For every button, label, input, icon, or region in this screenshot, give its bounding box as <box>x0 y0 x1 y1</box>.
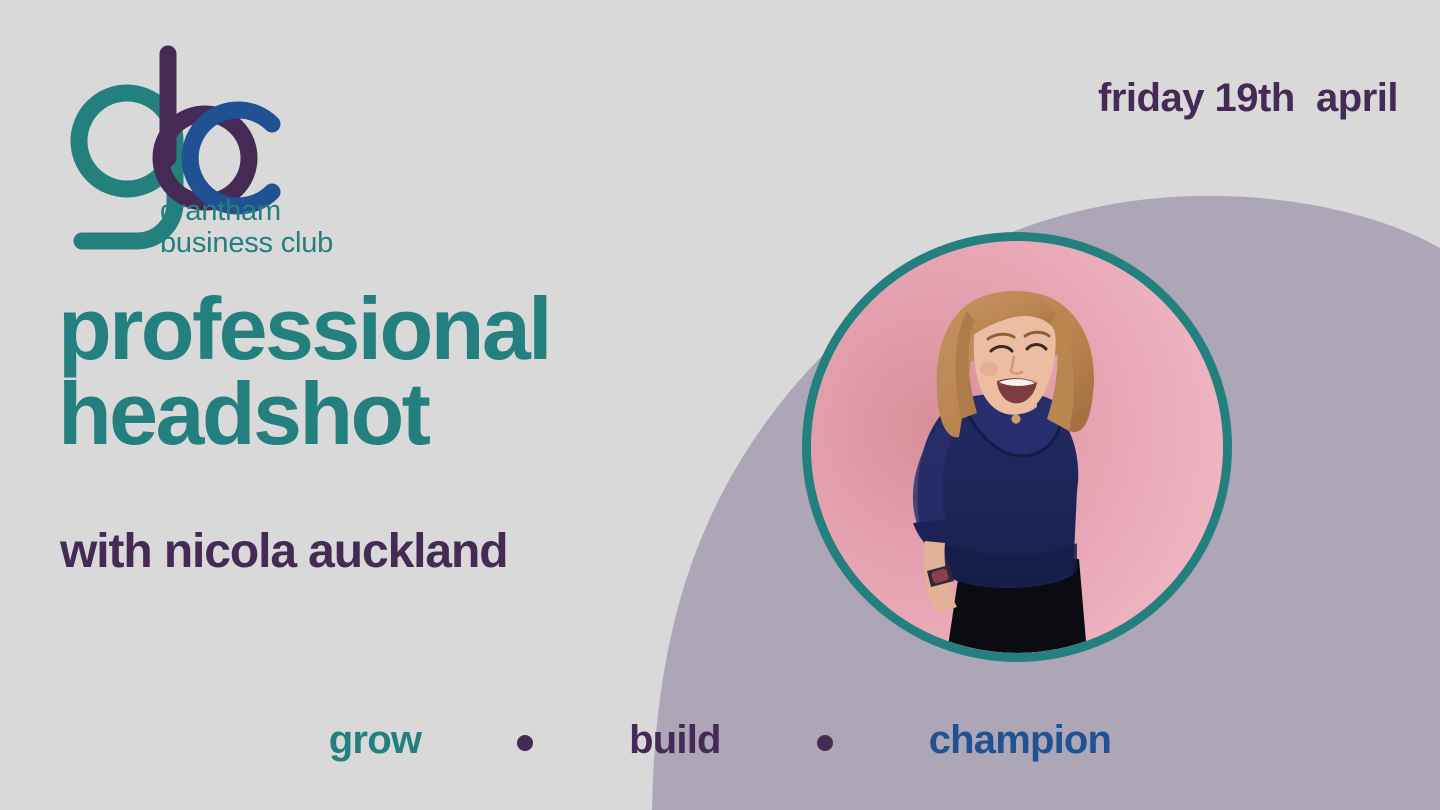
photo-pendant <box>1011 414 1020 423</box>
photo-cheek <box>980 362 998 376</box>
portrait-image <box>811 241 1223 653</box>
event-date: friday 19th april <box>1098 76 1398 121</box>
tagline-row: grow build champion <box>0 718 1440 763</box>
portrait-illustration <box>811 241 1223 653</box>
presenter-subtitle: with nicola auckland <box>60 524 507 579</box>
tagline-item-build: build <box>629 718 721 763</box>
brand-logo: grantham business club <box>60 40 360 270</box>
poster-canvas: grantham business club friday 19th april… <box>0 0 1440 810</box>
tagline-separator-dot-1 <box>517 735 533 751</box>
page-title: professional headshot <box>58 286 550 457</box>
logo-wordmark: grantham business club <box>160 195 333 260</box>
tagline-item-champion: champion <box>929 718 1112 763</box>
tagline-separator-dot-2 <box>817 735 833 751</box>
tagline-item-grow: grow <box>329 718 421 763</box>
presenter-portrait <box>802 232 1232 662</box>
